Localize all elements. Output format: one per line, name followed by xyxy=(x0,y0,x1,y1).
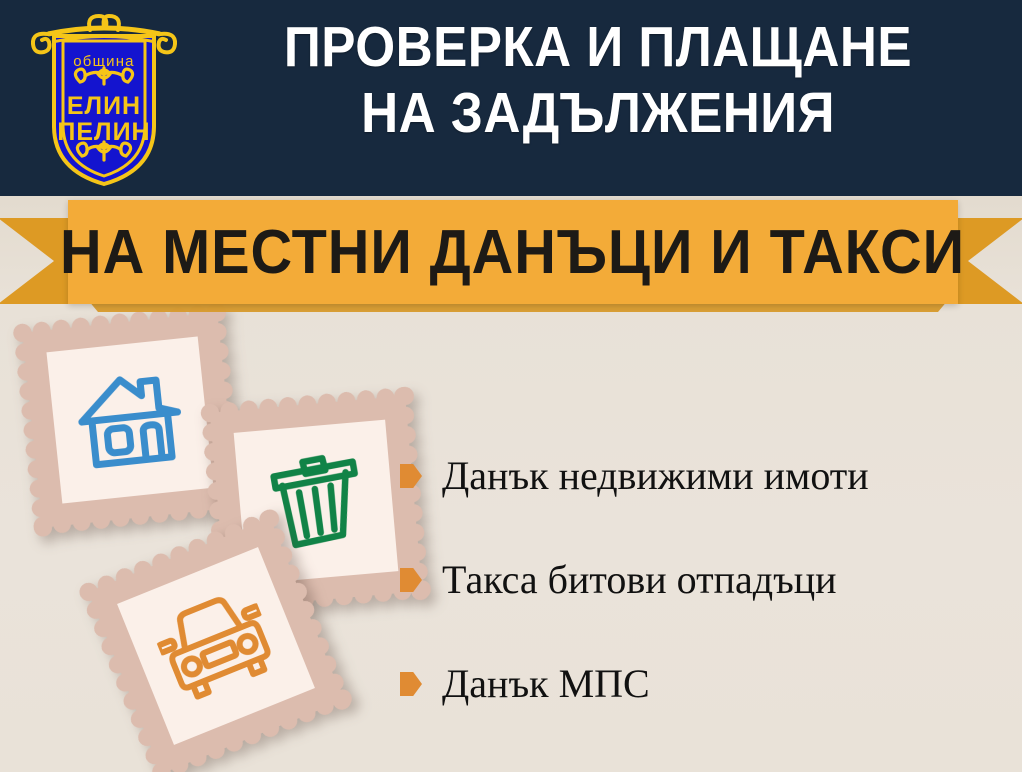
list-item[interactable]: Данък МПС xyxy=(400,632,1000,736)
stamp-paper-house xyxy=(46,336,213,503)
page-title-line-2: НА ЗАДЪЛЖЕНИЯ xyxy=(227,80,969,146)
page-title: ПРОВЕРКА И ПЛАЩАНЕ НА ЗАДЪЛЖЕНИЯ xyxy=(186,14,1010,146)
list-item-label: Данък МПС xyxy=(442,662,650,706)
poster-root: община ЕЛИН ПЕЛИН xyxy=(0,0,1022,772)
list-item-label: Такса битови отпадъци xyxy=(442,558,837,602)
arrow-bullet-icon xyxy=(400,464,422,488)
list-item[interactable]: Данък недвижими имоти xyxy=(400,424,1000,528)
page-title-line-1: ПРОВЕРКА И ПЛАЩАНЕ xyxy=(227,14,969,80)
list-item[interactable]: Такса битови отпадъци xyxy=(400,528,1000,632)
header-bar: община ЕЛИН ПЕЛИН xyxy=(0,0,1022,196)
coat-of-arms-icon: община ЕЛИН ПЕЛИН xyxy=(24,8,184,188)
car-front-icon xyxy=(148,581,284,710)
ribbon-label: НА МЕСТНИ ДАНЪЦИ И ТАКСИ xyxy=(61,217,966,288)
tax-type-list: Данък недвижими имоти Такса битови отпад… xyxy=(400,424,1000,736)
ornament-top-icon xyxy=(75,68,132,84)
arrow-bullet-icon xyxy=(400,672,422,696)
arrow-bullet-icon xyxy=(400,568,422,592)
municipality-logo: община ЕЛИН ПЕЛИН xyxy=(24,8,184,188)
house-icon xyxy=(73,366,187,474)
ribbon-main-panel: НА МЕСТНИ ДАНЪЦИ И ТАКСИ xyxy=(68,200,958,304)
stamp-paper-car xyxy=(117,547,315,745)
list-item-label: Данък недвижими имоти xyxy=(442,454,869,498)
logo-text-elin: ЕЛИН xyxy=(67,92,141,120)
